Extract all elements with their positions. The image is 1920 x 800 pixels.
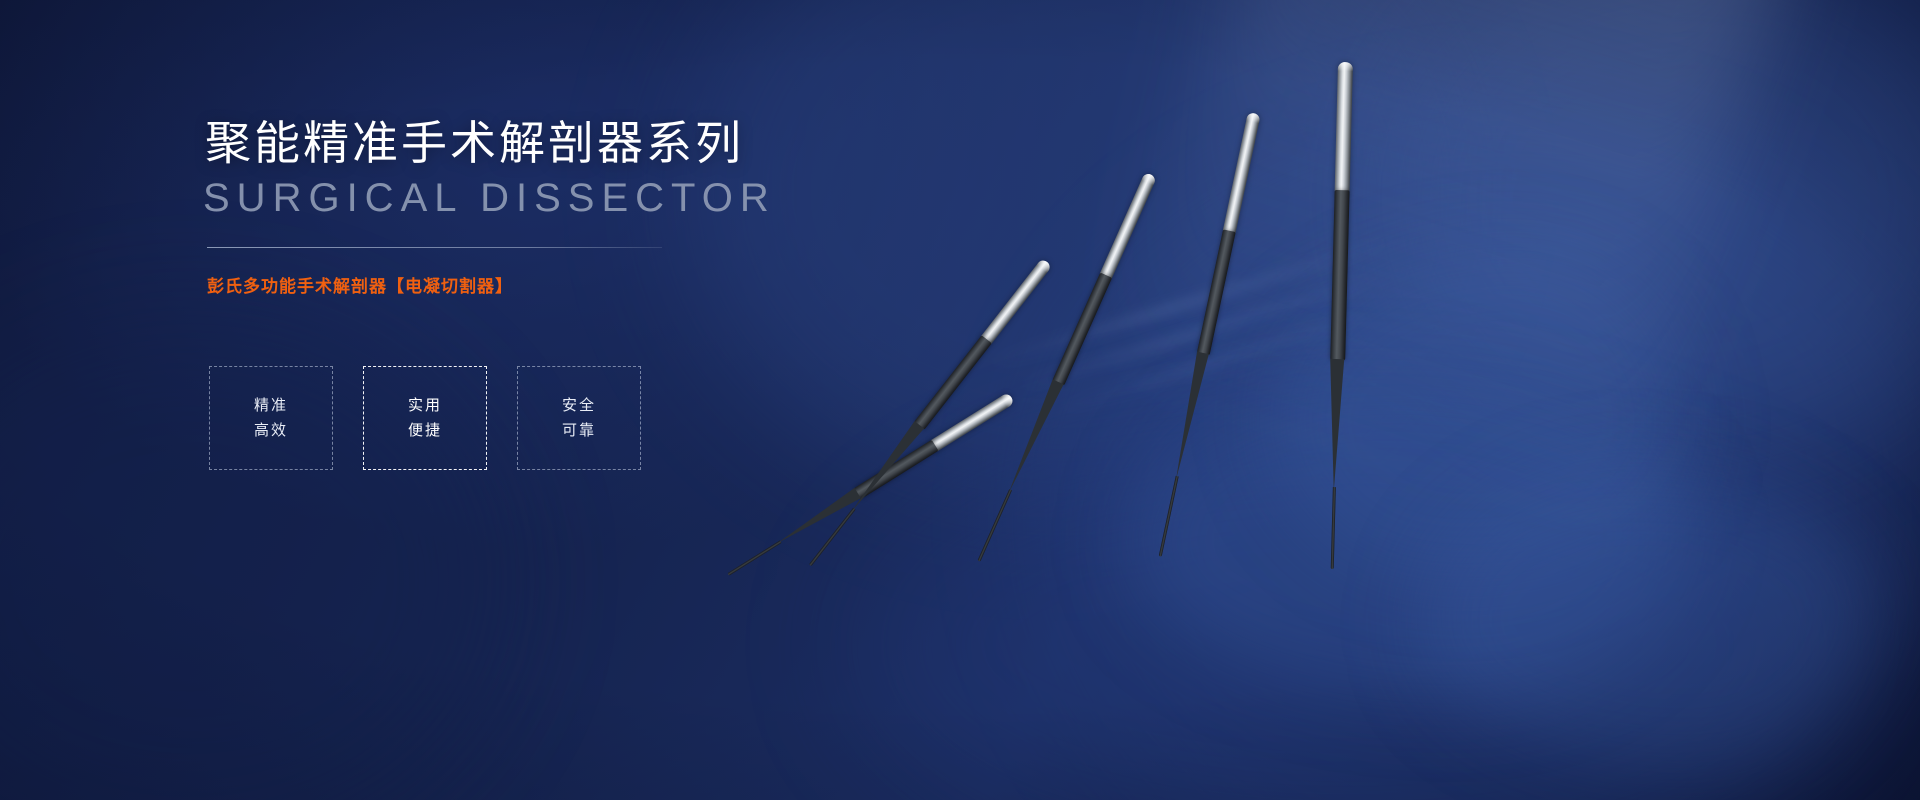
banner-content: 聚能精准手术解剖器系列 SURGICAL DISSECTOR 彭氏多功能手术解剖… (0, 0, 760, 800)
instrument-shaft (1052, 272, 1112, 385)
feature-box-1[interactable]: 精准 高效 (209, 366, 333, 470)
feature-box-2-line2: 便捷 (408, 423, 442, 438)
instrument-shaft (1197, 229, 1236, 355)
feature-box-3-line1: 安全 (562, 398, 596, 413)
page-subtitle-en: SURGICAL DISSECTOR (203, 178, 776, 218)
instrument-tip (978, 489, 1012, 561)
instrument-taper (1327, 359, 1344, 491)
feature-box-1-line1: 精准 (254, 398, 288, 413)
instrument-handle (1335, 62, 1353, 192)
feature-box-2-line1: 实用 (408, 398, 442, 413)
instrument-taper (1003, 379, 1064, 495)
instrument-shaft (1330, 190, 1349, 360)
instrument-handle (1223, 112, 1261, 234)
product-name-label: 彭氏多功能手术解剖器【电凝切割器】 (207, 278, 513, 295)
page-title: 聚能精准手术解剖器系列 (205, 120, 744, 166)
instrument-handle (980, 258, 1052, 345)
feature-box-2[interactable]: 实用 便捷 (363, 366, 487, 470)
surgical-dissector-instruments (930, 0, 1920, 800)
instrument-handle (1099, 172, 1156, 280)
instrument-tip (1159, 476, 1179, 557)
feature-box-1-line2: 高效 (254, 423, 288, 438)
instrument-tip (1331, 487, 1336, 569)
instrument-taper (1170, 352, 1209, 482)
hero-banner: 聚能精准手术解剖器系列 SURGICAL DISSECTOR 彭氏多功能手术解剖… (0, 0, 1920, 800)
feature-box-3[interactable]: 安全 可靠 (517, 366, 641, 470)
divider (207, 247, 662, 248)
feature-box-3-line2: 可靠 (562, 423, 596, 438)
feature-box-group: 精准 高效 实用 便捷 安全 可靠 (209, 366, 641, 470)
